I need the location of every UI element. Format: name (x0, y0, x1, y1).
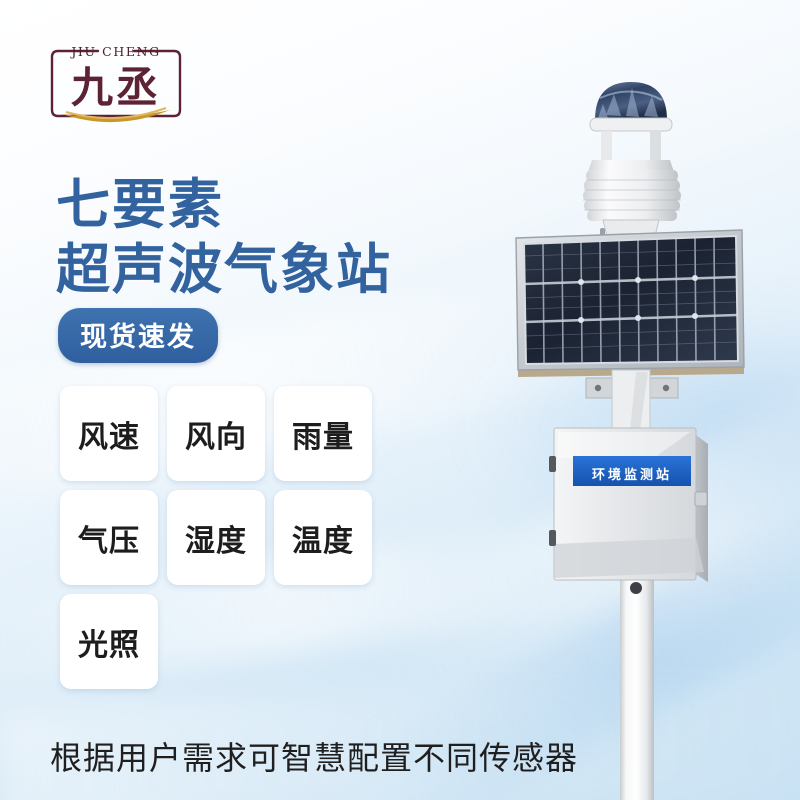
feature-tile: 气压 (60, 490, 158, 585)
enclosure-hinge-upper (549, 456, 556, 472)
panel-mount-bracket (586, 370, 678, 432)
feature-tile: 雨量 (274, 386, 372, 481)
equipment-enclosure (549, 428, 708, 594)
brand-chinese-name: 九丞 (71, 63, 161, 112)
mounting-pole-lower (620, 560, 654, 800)
headline-line-1: 七要素 (56, 178, 224, 232)
feature-tile-grid: 风速 风向 雨量 气压 湿度 温度 光照 (60, 386, 372, 689)
feature-tile: 风向 (167, 386, 265, 481)
enclosure-hinge-lower (549, 530, 556, 546)
feature-tile: 风速 (60, 386, 158, 481)
brand-logo: JIU CHENG 九丞 (46, 36, 186, 132)
cable-gland (630, 582, 642, 594)
stock-badge: 现货速发 (58, 308, 218, 363)
product-poster: JIU CHENG 九丞 七要素 超声波气象站 现货速发 风速 风向 雨量 气压… (0, 0, 800, 800)
feature-tile: 湿度 (167, 490, 265, 585)
enclosure-label-plate (573, 456, 691, 486)
ultrasonic-sensor-icon (590, 82, 672, 163)
headline-line-2: 超声波气象站 (56, 243, 392, 297)
feature-tile: 光照 (60, 594, 158, 689)
enclosure-latch (695, 492, 707, 506)
feature-tile: 温度 (274, 490, 372, 585)
brand-latin-name: JIU CHENG (69, 44, 160, 59)
product-photo: 环境监测站 (440, 60, 800, 800)
